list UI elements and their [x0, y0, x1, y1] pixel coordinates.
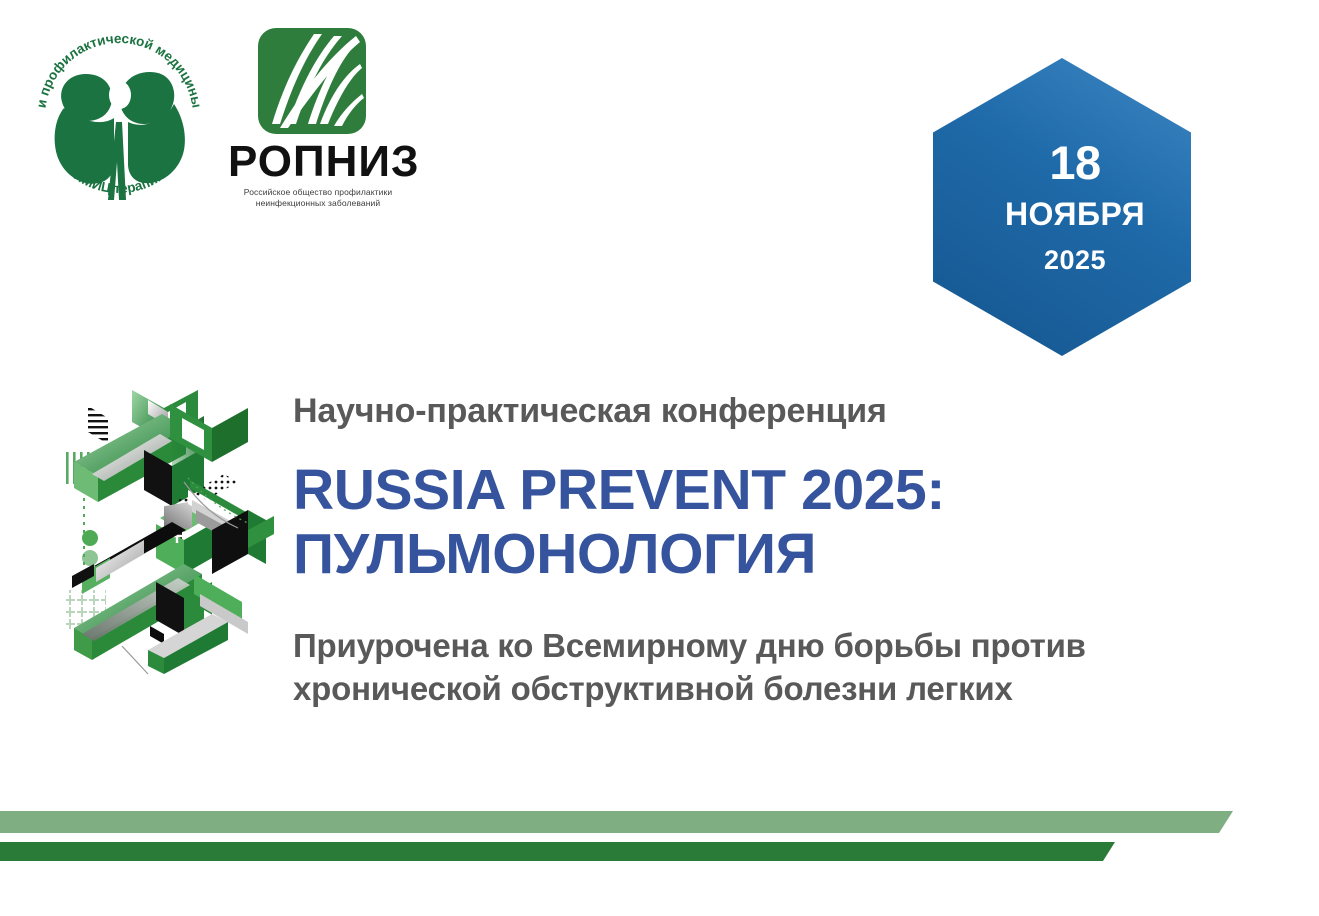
nmic-logo: и профилактической медицины НМИЦ терапии [24, 22, 214, 212]
ropniz-subtitle-line-2: неинфекционных заболеваний [256, 198, 380, 208]
ropniz-subtitle-line-1: Российское общество профилактики [244, 187, 392, 197]
page-title: RUSSIA PREVENT 2025: ПУЛЬМОНОЛОГИЯ [293, 459, 1293, 587]
conference-poster: и профилактической медицины НМИЦ терапии [0, 0, 1319, 916]
subtitle-line-1: Приурочена ко Всемирному дню борьбы прот… [293, 625, 1293, 668]
subtitle-text: Приурочена ко Всемирному дню борьбы прот… [293, 625, 1293, 711]
date-badge-text: 18 НОЯБРЯ 2025 [933, 58, 1191, 356]
date-day: 18 [1049, 138, 1100, 187]
subtitle-line-2: хронической обструктивной болезни легких [293, 668, 1293, 711]
date-year: 2025 [1044, 244, 1106, 276]
title-line-2: ПУЛЬМОНОЛОГИЯ [293, 523, 1293, 587]
ropniz-wordmark: РОПНИЗ [228, 140, 408, 184]
ropniz-logo: РОПНИЗ Российское общество профилактики … [228, 26, 408, 206]
headline-block: Научно-практическая конференция RUSSIA P… [293, 392, 1293, 711]
decor-bar-dark [0, 842, 1115, 861]
ropniz-subtitle: Российское общество профилактики неинфек… [228, 187, 408, 208]
title-line-1: RUSSIA PREVENT 2025: [293, 459, 1293, 523]
eyebrow-text: Научно-практическая конференция [293, 392, 1293, 431]
abstract-isometric-artwork [52, 378, 280, 684]
decor-bar-light [0, 811, 1233, 833]
ropniz-leaf-icon [228, 26, 408, 138]
date-month: НОЯБРЯ [1005, 195, 1145, 233]
date-badge: 18 НОЯБРЯ 2025 [933, 58, 1191, 356]
